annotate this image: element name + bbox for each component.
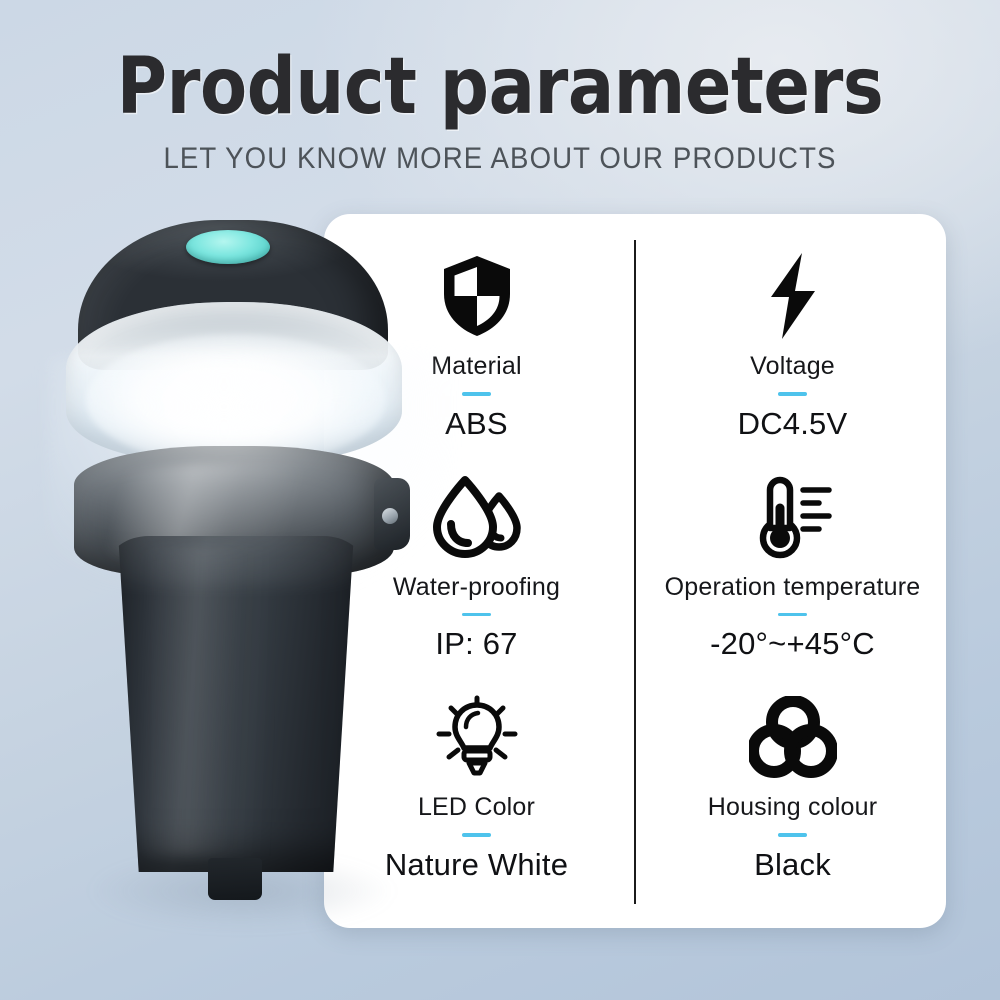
spec-label: Material xyxy=(431,352,522,381)
spec-dash xyxy=(462,613,491,617)
spec-card: Material ABS Voltage DC4.5V xyxy=(324,214,946,928)
spec-value: DC4.5V xyxy=(738,406,848,442)
spec-item-material: Material ABS xyxy=(334,242,635,463)
spec-item-operation-temperature: Operation temperature -20°~+45°C xyxy=(635,463,936,684)
spec-item-voltage: Voltage DC4.5V xyxy=(635,242,936,463)
lightning-bolt-icon xyxy=(762,250,824,342)
spec-dash xyxy=(462,833,491,837)
water-drops-icon xyxy=(431,471,523,563)
header: Product parameters LET YOU KNOW MORE ABO… xyxy=(0,0,1000,176)
product-base-tab xyxy=(208,858,262,900)
spec-value: IP: 67 xyxy=(435,626,517,662)
spec-item-led-color: LED Color Nature White xyxy=(334,683,635,904)
spec-dash xyxy=(462,392,491,396)
spec-value: -20°~+45°C xyxy=(710,626,875,662)
spec-value: Black xyxy=(754,847,831,883)
spec-value: ABS xyxy=(445,406,508,442)
spec-dash xyxy=(778,392,807,396)
infographic-page: Product parameters LET YOU KNOW MORE ABO… xyxy=(0,0,1000,1000)
product-top-button xyxy=(186,230,270,264)
color-circles-icon xyxy=(749,691,837,783)
page-subtitle: LET YOU KNOW MORE ABOUT OUR PRODUCTS xyxy=(40,142,960,176)
column-divider xyxy=(634,240,636,904)
spec-item-housing-colour: Housing colour Black xyxy=(635,683,936,904)
spec-label: Water-proofing xyxy=(393,573,560,602)
spec-label: LED Color xyxy=(418,793,535,822)
spec-value: Nature White xyxy=(385,847,568,883)
shield-icon xyxy=(440,250,514,342)
spec-label: Operation temperature xyxy=(665,573,921,602)
spec-label: Voltage xyxy=(750,352,835,381)
thermometer-icon xyxy=(747,471,839,563)
spec-dash xyxy=(778,833,807,837)
spec-dash xyxy=(778,613,807,617)
spec-label: Housing colour xyxy=(708,793,878,822)
spec-item-waterproofing: Water-proofing IP: 67 xyxy=(334,463,635,684)
light-bulb-icon xyxy=(431,691,523,783)
product-body-sheen xyxy=(144,546,274,856)
page-title: Product parameters xyxy=(60,48,940,126)
